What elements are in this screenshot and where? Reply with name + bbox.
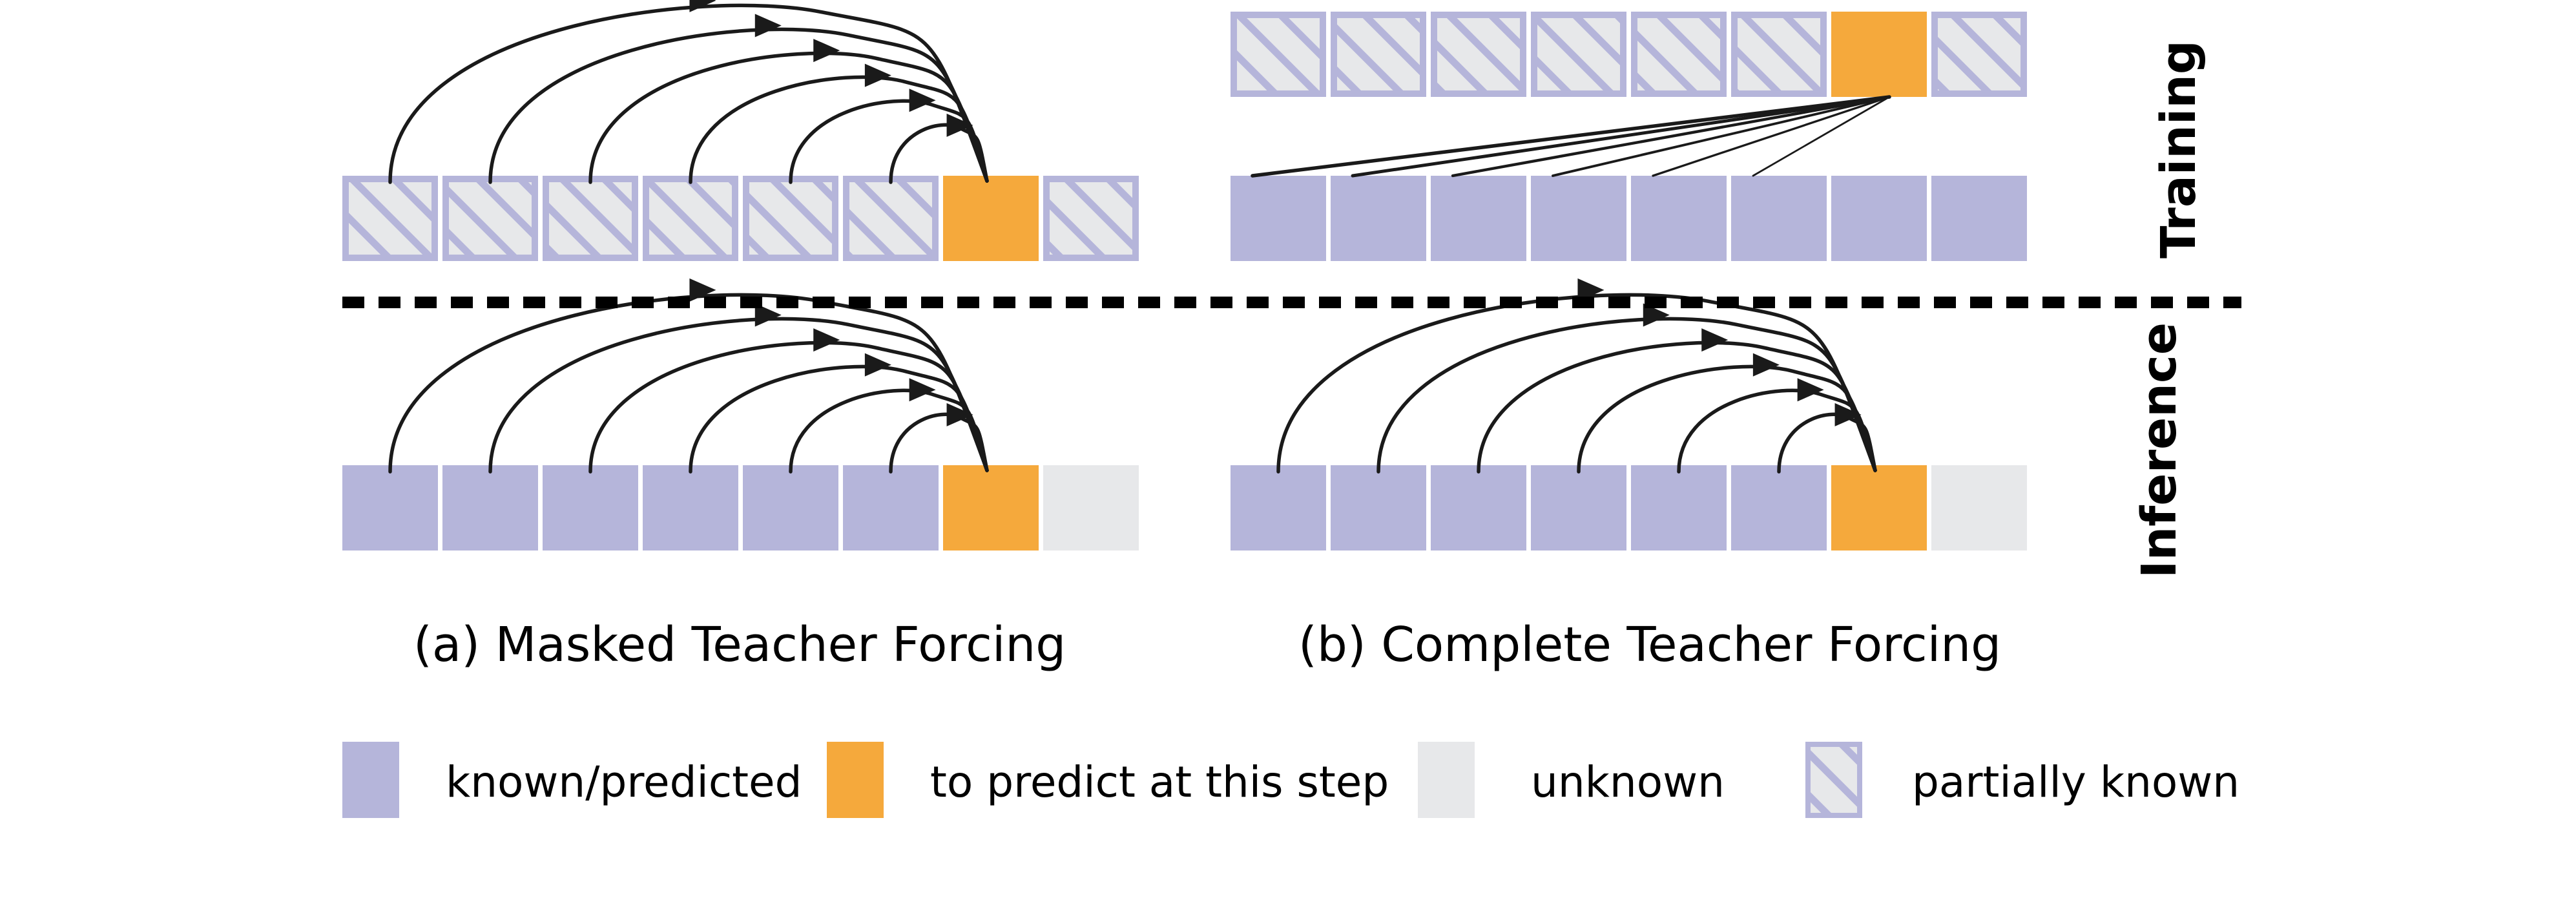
subfigure-caption-b: (b) Complete Teacher Forcing: [1298, 617, 1944, 673]
sequence-row: [342, 176, 1139, 261]
attention-arcs: [390, 0, 987, 182]
arrowhead-icon: [865, 353, 891, 377]
sequence-cell-known-predicted: [1731, 176, 1827, 261]
sequence-cell-partially-known: [743, 176, 838, 261]
sequence-cell-known-predicted: [1631, 465, 1727, 551]
legend-swatch-known-predicted: [342, 742, 399, 818]
sequence-cell-known-predicted: [1331, 176, 1426, 261]
attention-arc: [1479, 342, 1875, 472]
legend-label-unknown: unknown: [1531, 757, 1725, 807]
sequence-cell-known-predicted: [1631, 176, 1727, 261]
sequence-cell-known-predicted: [1331, 465, 1426, 551]
sequence-cell-to-predict: [1831, 465, 1927, 551]
sequence-cell-known-predicted: [1931, 176, 2027, 261]
sequence-cell-partially-known: [442, 176, 538, 261]
arrowhead-icon: [909, 89, 936, 112]
sequence-cell-to-predict: [943, 176, 1039, 261]
sequence-cell-known-predicted: [442, 465, 538, 551]
legend-label-to-predict: to predict at this step: [930, 757, 1389, 807]
attention-arc: [590, 342, 987, 472]
attention-arc: [1679, 390, 1875, 472]
row-label-inference: Inference: [2132, 322, 2187, 578]
legend-swatch-partially-known: [1805, 742, 1862, 818]
sequence-cell-unknown: [1043, 465, 1139, 551]
row-label-training: Training: [2151, 40, 2207, 258]
attention-arc: [691, 77, 987, 182]
sequence-cell-known-predicted: [543, 465, 638, 551]
dependency-line: [1453, 97, 1889, 176]
dependency-line: [1553, 97, 1889, 176]
dependency-line: [1653, 97, 1889, 176]
sequence-cell-partially-known: [1231, 12, 1326, 97]
attention-arc: [691, 366, 987, 472]
sequence-cell-to-predict: [943, 465, 1039, 551]
sequence-cell-known-predicted: [1231, 176, 1326, 261]
attention-arc: [791, 101, 987, 182]
legend-label-known-predicted: known/predicted: [446, 757, 802, 807]
legend-label-partially-known: partially known: [1912, 757, 2239, 807]
sequence-row: [1231, 176, 2027, 261]
arrowhead-icon: [755, 14, 782, 37]
sequence-cell-known-predicted: [1531, 176, 1626, 261]
sequence-cell-known-predicted: [342, 465, 438, 551]
sequence-cell-partially-known: [843, 176, 939, 261]
legend-swatch-fill: [1805, 742, 1862, 818]
attention-arcs: [1252, 97, 1889, 176]
arrowhead-icon: [909, 378, 936, 401]
attention-arc: [590, 53, 987, 182]
legend-swatch-fill: [827, 742, 884, 818]
dependency-line: [1353, 97, 1889, 176]
legend-swatch-to-predict: [827, 742, 884, 818]
sequence-cell-known-predicted: [843, 465, 939, 551]
arrowhead-icon: [1753, 353, 1780, 377]
sequence-cell-partially-known: [643, 176, 738, 261]
attention-arc: [891, 125, 987, 182]
arrowhead-icon: [865, 64, 891, 87]
cells-layer: [342, 12, 2027, 551]
subfigure-caption-a: (a) Masked Teacher Forcing: [413, 617, 1059, 673]
sequence-cell-known-predicted: [643, 465, 738, 551]
arrowhead-icon: [813, 328, 840, 351]
sequence-row: [1231, 12, 2027, 97]
dependency-line: [1252, 97, 1889, 176]
sequence-cell-known-predicted: [1831, 176, 1927, 261]
sequence-cell-known-predicted: [1231, 465, 1326, 551]
attention-arc: [1779, 414, 1875, 472]
arrowhead-icon: [813, 39, 840, 62]
sequence-cell-known-predicted: [743, 465, 838, 551]
sequence-cell-known-predicted: [1431, 465, 1526, 551]
sequence-row: [342, 465, 1139, 551]
sequence-cell-partially-known: [1043, 176, 1139, 261]
sequence-cell-known-predicted: [1431, 176, 1526, 261]
attention-arc: [791, 390, 987, 472]
teacher-forcing-diagram: Training Inference (a) Masked Teacher Fo…: [0, 0, 2576, 902]
sequence-cell-partially-known: [1431, 12, 1526, 97]
sequence-cell-known-predicted: [1531, 465, 1626, 551]
legend-swatch-fill: [1418, 742, 1475, 818]
sequence-cell-partially-known: [1331, 12, 1426, 97]
sequence-cell-partially-known: [1731, 12, 1827, 97]
legend-swatch-fill: [342, 742, 399, 818]
attention-arc: [1579, 366, 1875, 472]
arrowhead-icon: [1798, 378, 1824, 401]
sequence-cell-partially-known: [1631, 12, 1727, 97]
sequence-cell-partially-known: [1931, 12, 2027, 97]
arrowhead-icon: [1701, 328, 1728, 351]
sequence-cell-unknown: [1931, 465, 2027, 551]
legend-swatch-unknown: [1418, 742, 1475, 818]
sequence-cell-partially-known: [1531, 12, 1626, 97]
sequence-row: [1231, 465, 2027, 551]
attention-arc: [891, 414, 987, 472]
sequence-cell-to-predict: [1831, 12, 1927, 97]
sequence-cell-partially-known: [543, 176, 638, 261]
sequence-cell-partially-known: [342, 176, 438, 261]
sequence-cell-known-predicted: [1731, 465, 1827, 551]
